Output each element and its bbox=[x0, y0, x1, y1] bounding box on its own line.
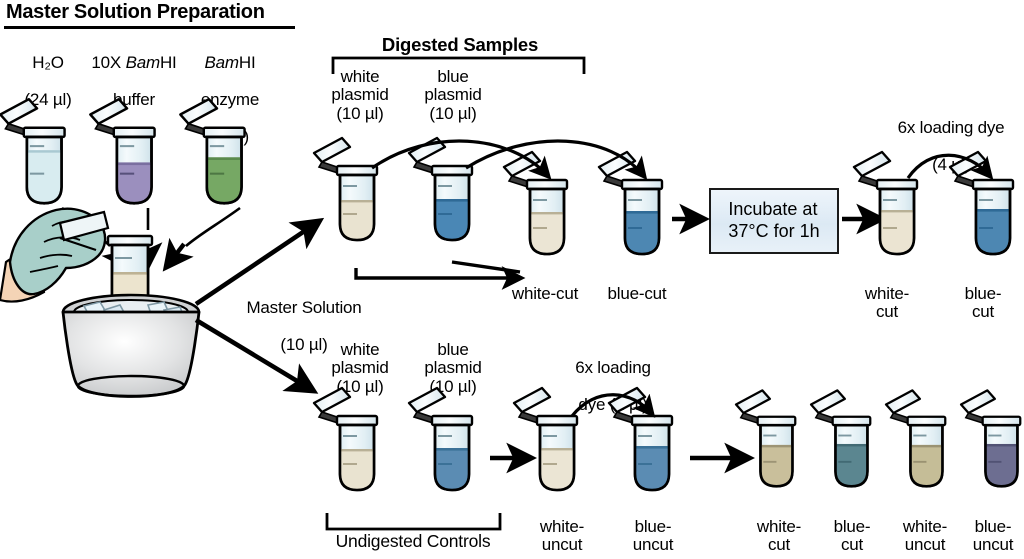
final-label-white-cut: white- cut bbox=[743, 518, 815, 555]
loading-dye-bottom-line2: dye (2 µl) bbox=[578, 395, 647, 414]
loading-dye-label-bottom: 6x loading dye (2 µl) bbox=[548, 341, 678, 414]
reagent-label-buffer: 10X BamHI buffer (3 µl) bbox=[88, 36, 180, 146]
final-label-white-uncut: white- uncut bbox=[886, 518, 964, 555]
dyed-label-blue-cut: blue- cut bbox=[948, 285, 1018, 322]
reagent-name-enzyme-line1: BamHI bbox=[205, 53, 256, 72]
feed-line-water bbox=[62, 208, 110, 246]
gloved-hand bbox=[0, 209, 108, 302]
protocol-diagram: Master Solution Preparation H₂O (24 µl) … bbox=[0, 0, 1024, 559]
final-label-blue-uncut: blue- uncut bbox=[962, 518, 1024, 555]
tube-final-blue-cut bbox=[811, 390, 870, 492]
arrow-enzyme-in bbox=[167, 244, 184, 266]
undigested-product-label-blue-uncut: blue- uncut bbox=[615, 518, 691, 555]
arrow-master-join bbox=[452, 262, 520, 272]
final-label-blue-cut: blue- cut bbox=[818, 518, 886, 555]
tube-undigested-white-plasmid bbox=[314, 388, 377, 496]
undigested-source-label-blue: blue plasmid (10 µl) bbox=[413, 341, 493, 396]
incubate-step-text: Incubate at 37°C for 1h bbox=[728, 199, 819, 243]
undigested-source-label-white: white plasmid (10 µl) bbox=[320, 341, 400, 396]
reagent-volume-enzyme: (3 µl) bbox=[211, 127, 249, 146]
ice-bucket-label: Ice bucket bbox=[55, 300, 185, 318]
reagent-label-enzyme: BamHI enzyme (3 µl) bbox=[186, 36, 274, 146]
undigested-controls-bracket bbox=[327, 513, 500, 529]
reagent-volume-water: (24 µl) bbox=[24, 90, 71, 109]
digested-source-label-white: white plasmid (10 µl) bbox=[320, 68, 400, 123]
title-underline bbox=[4, 26, 295, 29]
digested-product-label-white-cut: white-cut bbox=[501, 285, 589, 303]
reagent-name-buffer-line1: 10X BamHI bbox=[91, 53, 176, 72]
feed-line-enzyme bbox=[186, 208, 240, 246]
digested-samples-title: Digested Samples bbox=[335, 34, 585, 56]
loading-dye-bottom-line1: 6x loading bbox=[575, 358, 651, 377]
dyed-label-white-cut: white- cut bbox=[852, 285, 922, 322]
tube-digested-white-plasmid bbox=[314, 138, 377, 246]
master-transfer-line1: Master Solution bbox=[246, 298, 361, 317]
tube-white-cut bbox=[504, 152, 567, 260]
tube-blue-cut bbox=[599, 152, 662, 260]
arrow-white-plasmid-to-cut bbox=[372, 141, 548, 176]
tube-water bbox=[0, 99, 64, 207]
digested-source-label-blue: blue plasmid (10 µl) bbox=[413, 68, 493, 123]
arrow-master-into-cut-tubes bbox=[356, 268, 520, 278]
undigested-product-label-white-uncut: white- uncut bbox=[523, 518, 601, 555]
reagent-name-buffer-line2: buffer bbox=[113, 90, 155, 109]
tube-final-white-cut bbox=[736, 390, 795, 492]
reagent-name-enzyme-line2: enzyme bbox=[201, 90, 259, 109]
arrow-water-in bbox=[112, 244, 128, 266]
loading-dye-top-line2: (4 µl) bbox=[932, 155, 970, 174]
reagent-volume-buffer: (3 µl) bbox=[115, 127, 153, 146]
tube-undigested-blue-plasmid bbox=[409, 388, 472, 496]
reagent-label-water: H₂O (24 µl) bbox=[8, 36, 88, 109]
tube-final-blue-uncut bbox=[961, 390, 1020, 492]
incubate-step-box: Incubate at 37°C for 1h bbox=[709, 188, 839, 254]
tube-digested-blue-plasmid bbox=[409, 138, 472, 246]
undigested-controls-title: Undigested Controls bbox=[318, 532, 508, 551]
loading-dye-label-top: 6x loading dye (4 µl) bbox=[880, 101, 1022, 174]
arrow-blue-plasmid-to-cut bbox=[466, 141, 644, 176]
digested-product-label-blue-cut: blue-cut bbox=[597, 285, 677, 303]
loading-dye-top-line1: 6x loading dye bbox=[898, 118, 1005, 137]
tube-final-white-uncut bbox=[886, 390, 945, 492]
reagent-name-water: H₂O bbox=[32, 53, 64, 72]
page-title: Master Solution Preparation bbox=[6, 1, 265, 24]
